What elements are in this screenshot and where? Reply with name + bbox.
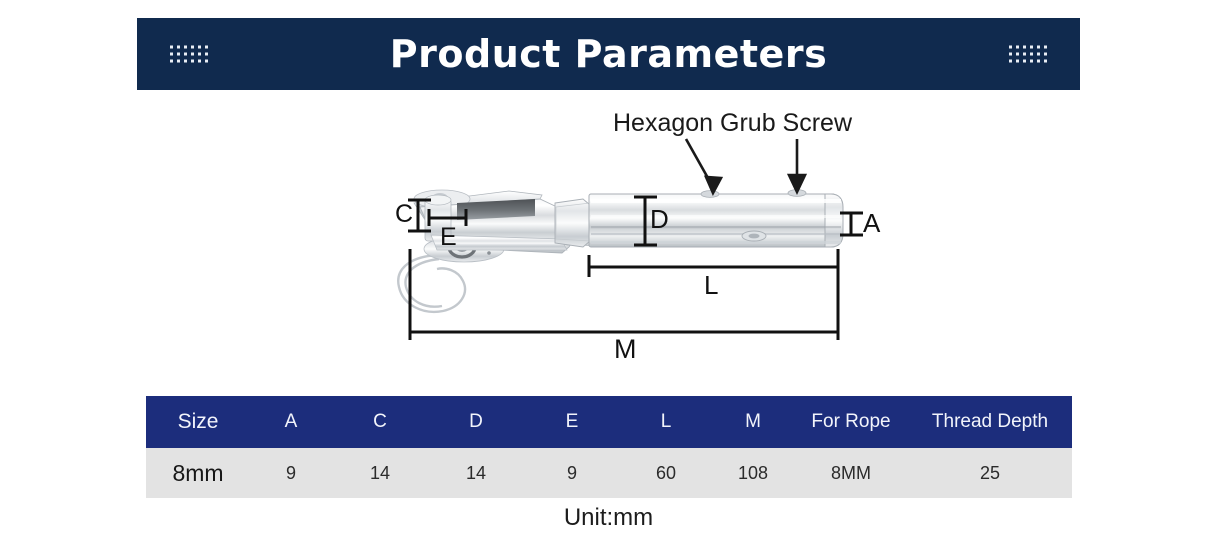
cell-c: 14	[332, 448, 428, 498]
col-header-size: Size	[146, 396, 250, 448]
cell-m: 108	[712, 448, 794, 498]
table-row: 8mm 9 14 14 9 60 108 8MM 25	[146, 448, 1072, 498]
product-dimension-diagram: Hexagon Grub Screw C E D A L M	[137, 95, 1080, 390]
callout-arrows	[686, 139, 805, 193]
cell-size: 8mm	[146, 448, 250, 498]
dim-label-D: D	[650, 204, 669, 235]
parameters-table: Size A C D E L M For Rope Thread Depth 8…	[146, 396, 1072, 498]
dimension-M	[410, 249, 838, 340]
col-header-d: D	[428, 396, 524, 448]
dim-label-L: L	[704, 270, 718, 301]
product-parameters-page: Product Parameters	[0, 0, 1217, 552]
dim-label-A: A	[863, 208, 880, 239]
dot-grid-ornament-left	[170, 46, 208, 63]
table-header-row: Size A C D E L M For Rope Thread Depth	[146, 396, 1072, 448]
page-banner: Product Parameters	[137, 18, 1080, 90]
cell-d: 14	[428, 448, 524, 498]
col-header-e: E	[524, 396, 620, 448]
col-header-l: L	[620, 396, 712, 448]
swage-terminal-body	[589, 190, 843, 247]
col-header-thread-depth: Thread Depth	[908, 396, 1072, 448]
dim-label-C: C	[395, 200, 413, 229]
cell-for-rope: 8MM	[794, 448, 908, 498]
page-title: Product Parameters	[390, 32, 827, 76]
dim-label-E: E	[440, 223, 457, 252]
hexagon-grub-screw-callout: Hexagon Grub Screw	[613, 109, 852, 138]
product-illustration	[398, 190, 843, 312]
col-header-c: C	[332, 396, 428, 448]
cotter-wire-loop	[398, 255, 465, 312]
cell-a: 9	[250, 448, 332, 498]
cell-e: 9	[524, 448, 620, 498]
col-header-for-rope: For Rope	[794, 396, 908, 448]
dim-label-M: M	[614, 334, 637, 365]
unit-note: Unit:mm	[0, 504, 1217, 532]
hex-lock-nut	[555, 199, 590, 247]
col-header-a: A	[250, 396, 332, 448]
cell-thread-depth: 25	[908, 448, 1072, 498]
cell-l: 60	[620, 448, 712, 498]
diagram-svg	[137, 95, 1080, 390]
dot-grid-ornament-right	[1009, 46, 1047, 63]
col-header-m: M	[712, 396, 794, 448]
